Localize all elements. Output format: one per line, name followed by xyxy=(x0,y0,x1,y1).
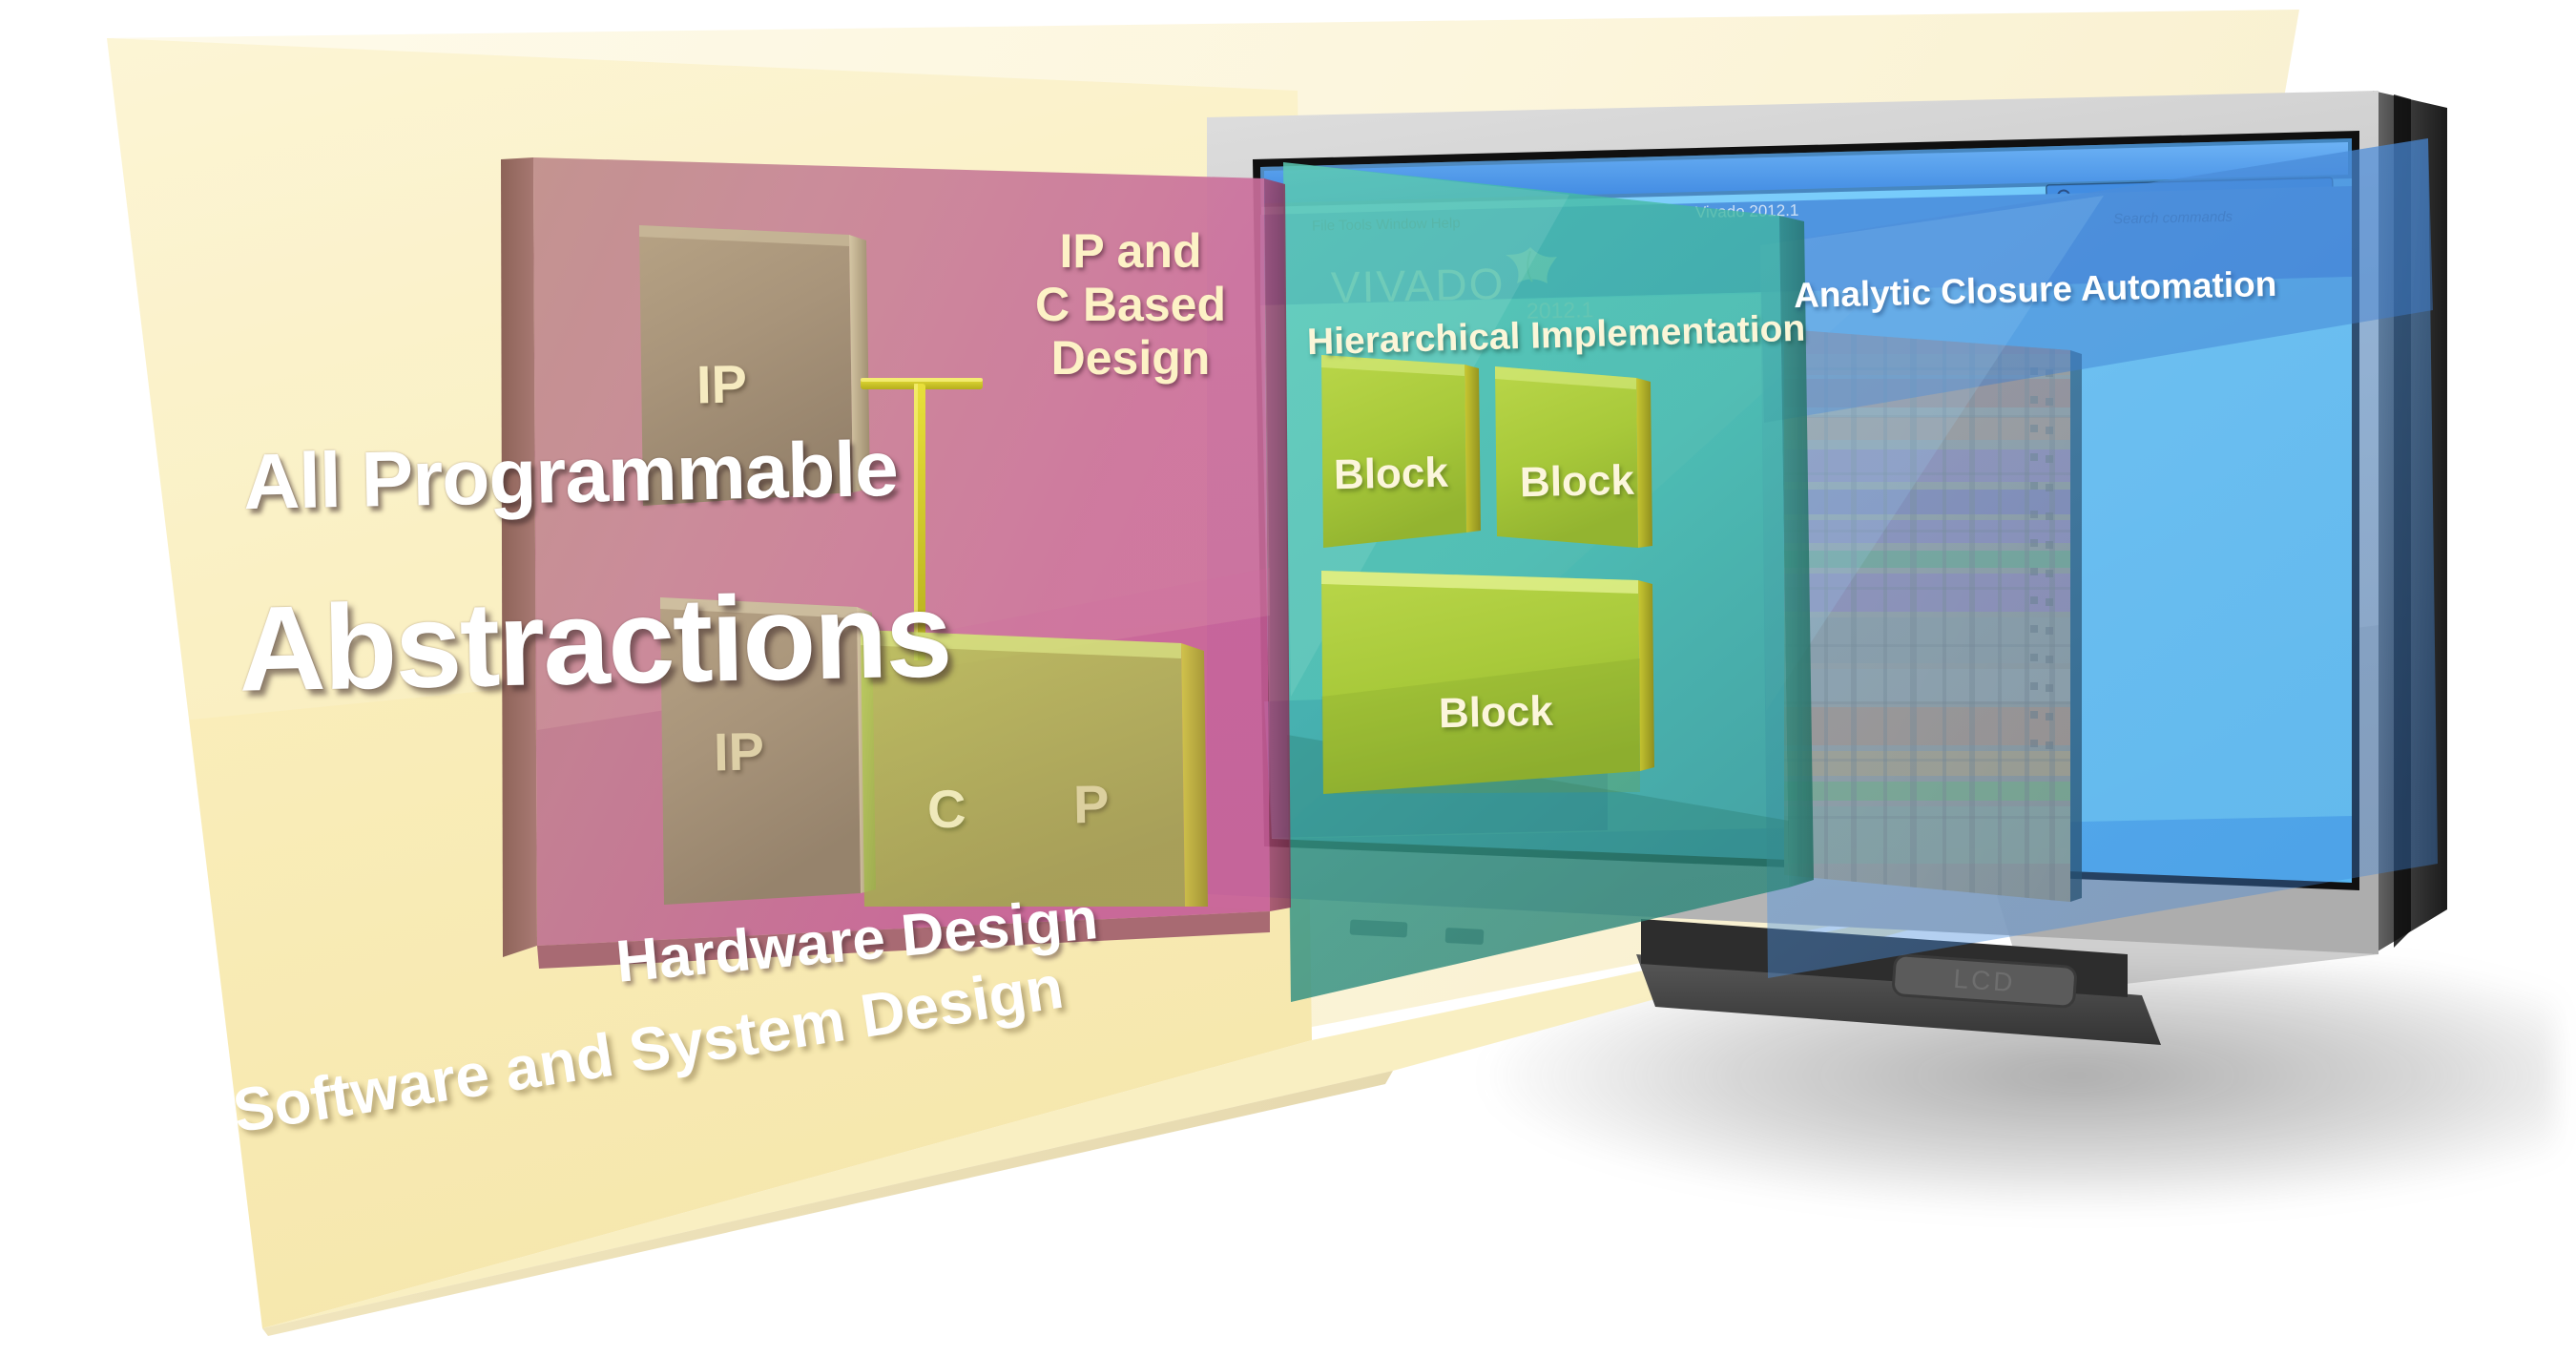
ip-block-label-partial: P xyxy=(1072,773,1109,836)
block-label-1: Block xyxy=(1333,449,1448,499)
headline-line-2: Abstractions xyxy=(238,565,952,719)
ipc-line-1: IP and xyxy=(1026,224,1236,278)
ip-block-label-1: IP xyxy=(696,353,747,416)
ip-and-c-based-design-label: IP and C Based Design xyxy=(1026,224,1236,385)
block-group xyxy=(1321,344,1837,878)
block-label-2: Block xyxy=(1519,457,1634,507)
abstraction-stack-figure: LCD Vivado 2012.1 File Tools Window Help… xyxy=(0,0,2576,1357)
headline-line-1: All Programmable xyxy=(242,425,899,528)
c-block-label: C xyxy=(926,778,966,841)
ip-block-label-2: IP xyxy=(713,720,764,783)
ipc-line-2: C Based xyxy=(1026,278,1236,331)
ipc-line-3: Design xyxy=(1026,331,1236,385)
block-label-3: Block xyxy=(1438,688,1553,738)
